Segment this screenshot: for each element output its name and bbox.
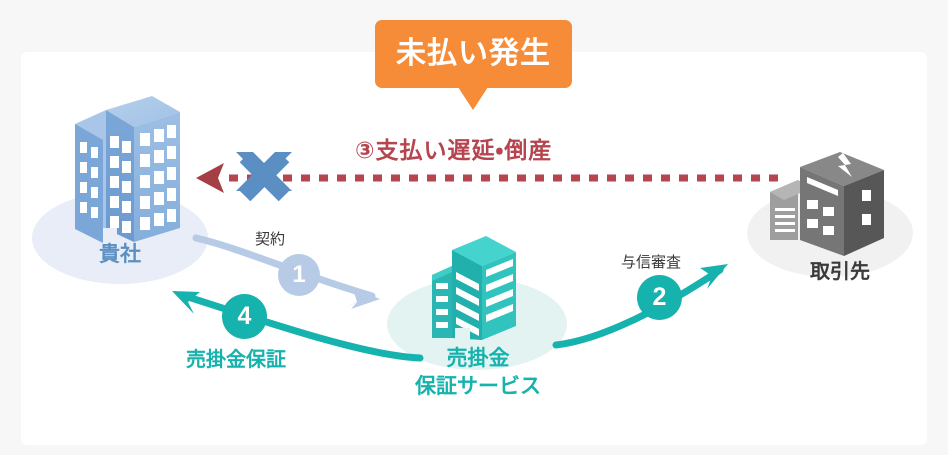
flow-1-number-badge: 1 [278,254,320,296]
diagram-canvas: 未払い発生 ③支払い遅延・倒産 貴社 取引先 売掛金 保証サービス 契約 与信審… [0,0,948,455]
office-building-teal-icon [432,236,516,340]
callout-label: 未払い発生 [375,20,572,88]
x-mark-icon [236,152,292,196]
flow-1-label: 契約 [255,228,285,249]
flow-2-label: 与信審査 [621,251,681,272]
flow-4-label: 売掛金保証 [186,343,286,372]
flow-2-number-badge: 2 [637,275,682,320]
unpaid-occurrence-callout: 未払い発生 [375,20,572,88]
guarantee-service-label: 売掛金 保証サービス [398,345,558,401]
business-partner-label: 取引先 [782,255,898,284]
guarantee-service-label-line1: 売掛金 [398,345,558,373]
flow-3-label: ③支払い遅延・倒産 [355,131,552,165]
guarantee-service-label-line2: 保証サービス [398,373,558,401]
office-building-blue-icon [75,96,180,244]
flow-4-number-badge: 4 [222,294,267,339]
callout-tail [458,87,488,110]
your-company-label: 貴社 [62,238,178,268]
